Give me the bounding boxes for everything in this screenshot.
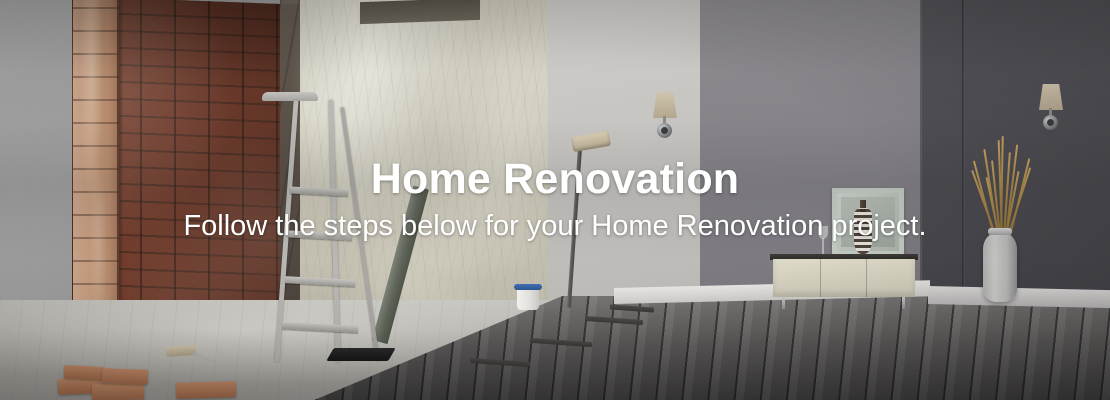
page-subtitle: Follow the steps below for your Home Ren… xyxy=(183,210,926,243)
page-title: Home Renovation xyxy=(371,157,740,202)
home-renovation-hero-banner: Home Renovation Follow the steps below f… xyxy=(0,0,1110,400)
hero-text-overlay: Home Renovation Follow the steps below f… xyxy=(0,0,1110,400)
